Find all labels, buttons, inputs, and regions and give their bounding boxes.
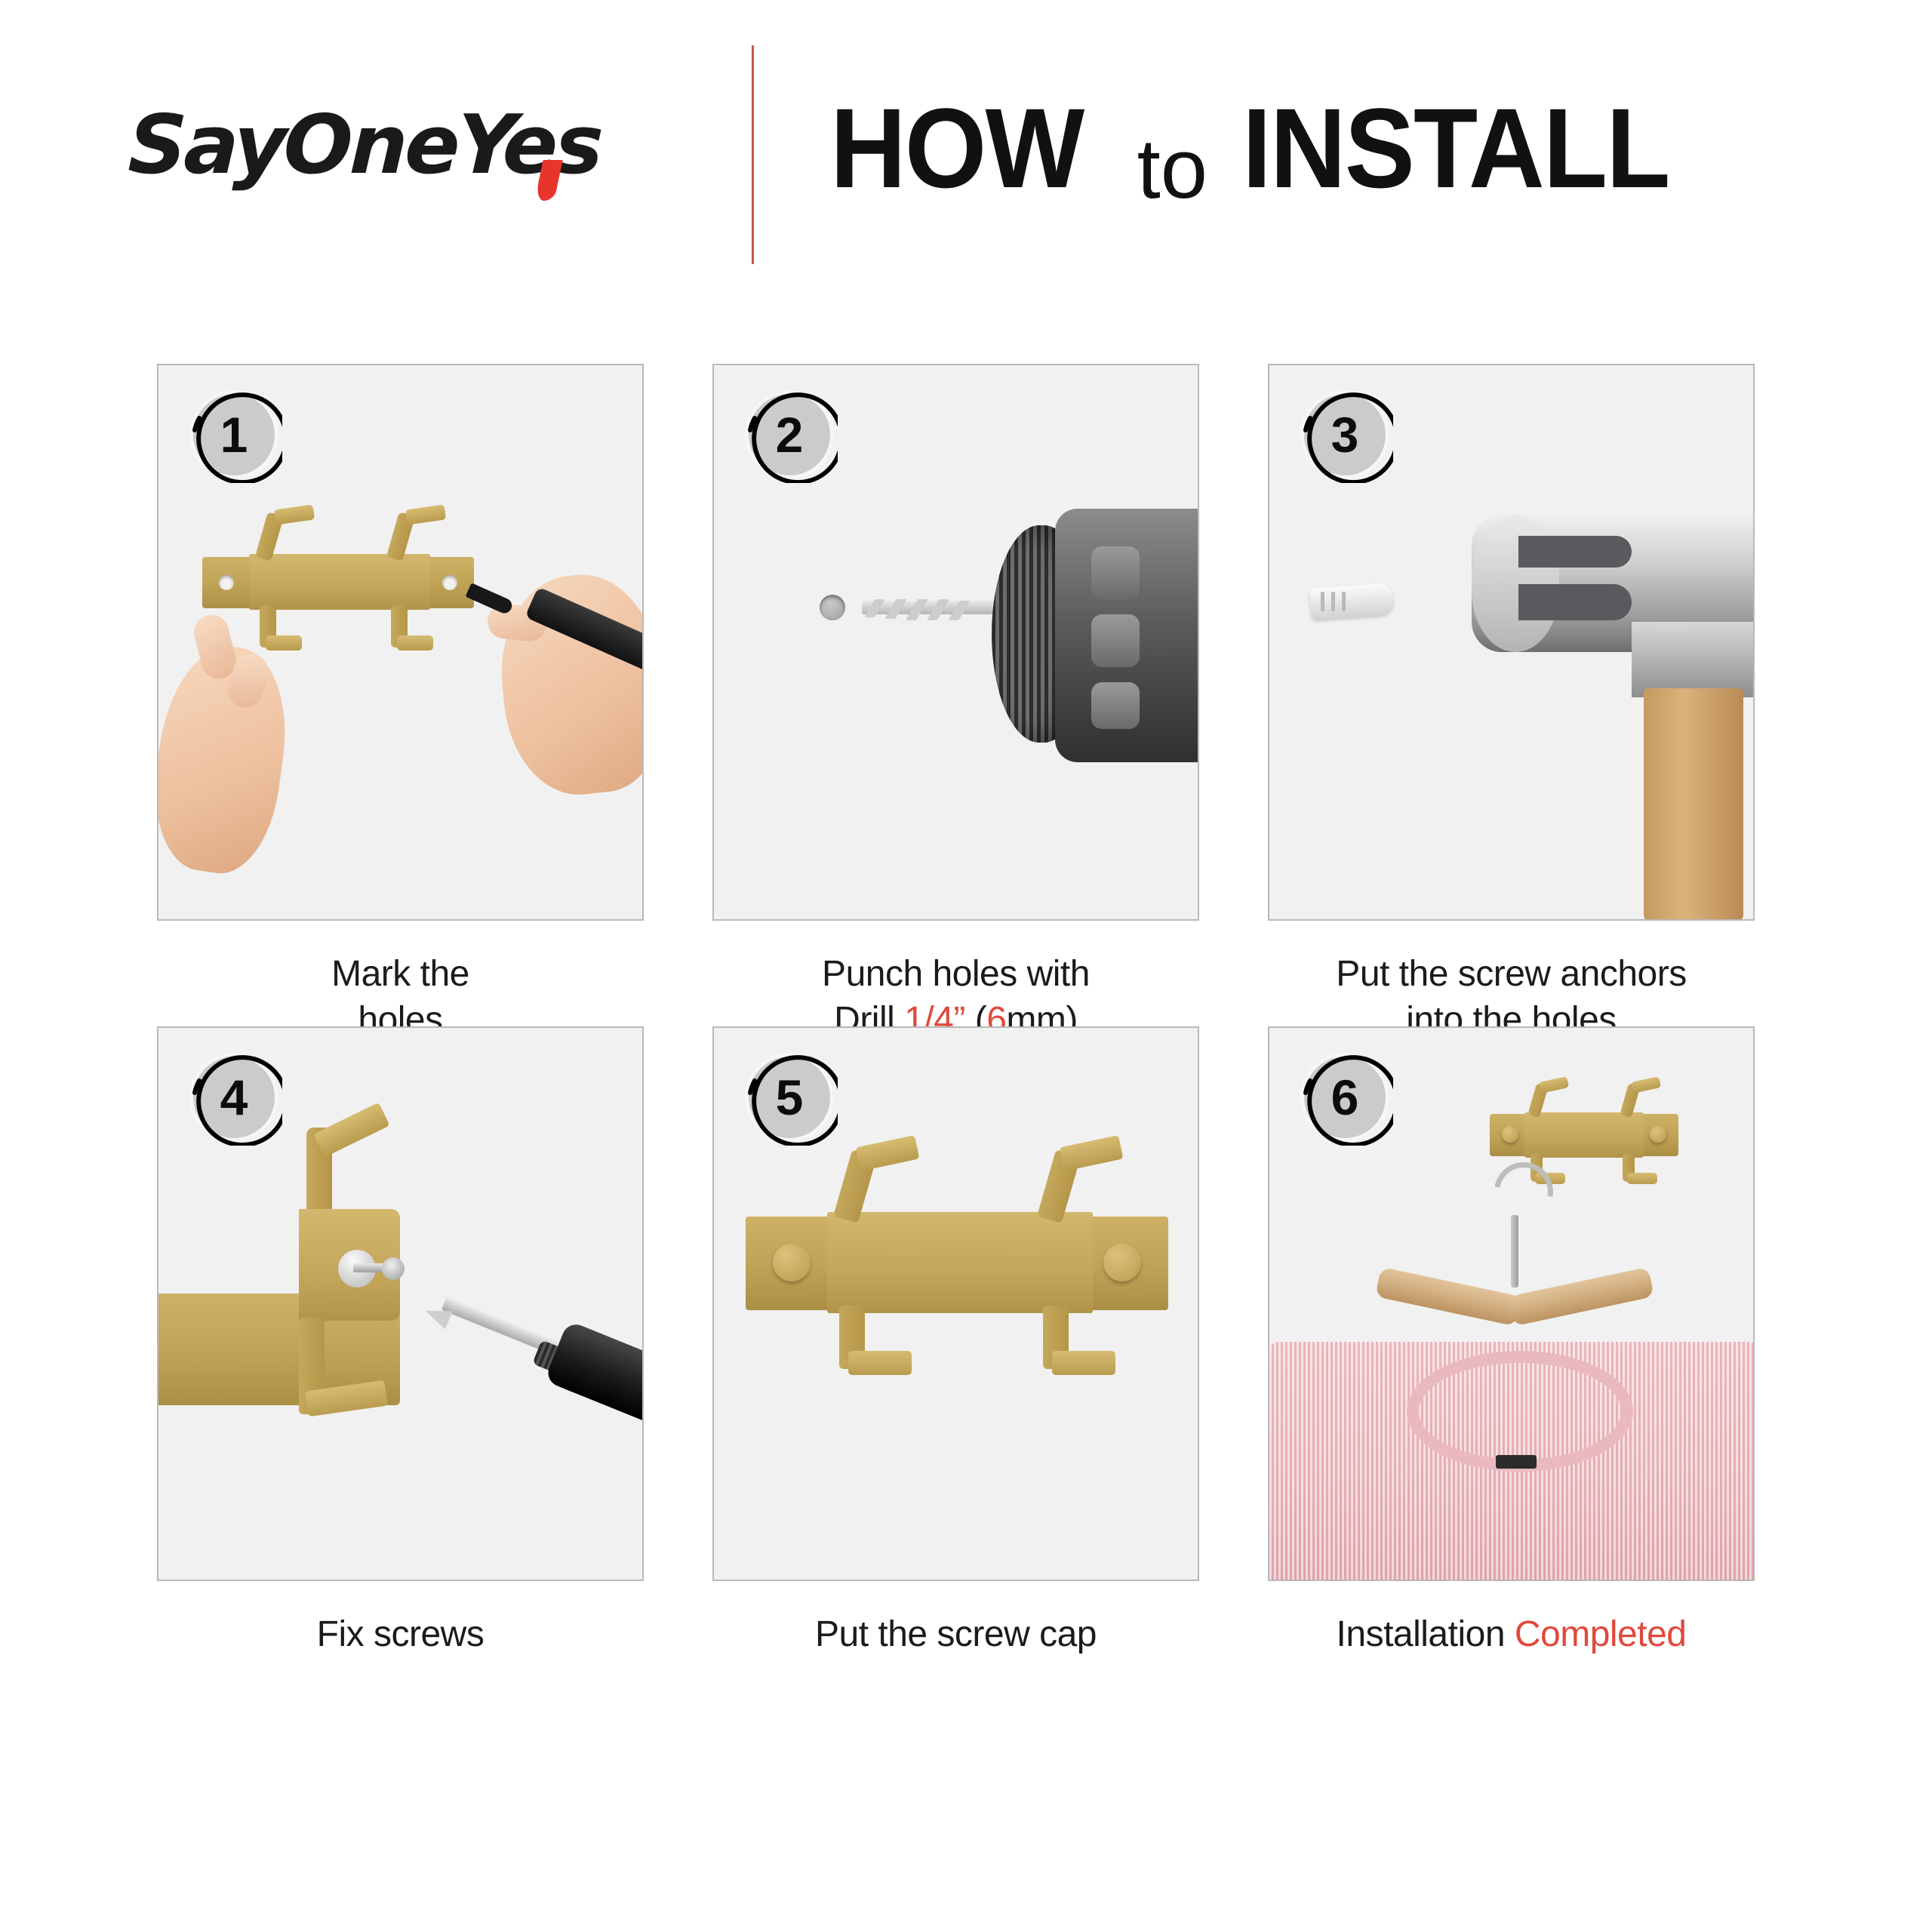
rail-front-bar — [827, 1212, 1093, 1313]
step-badge-5: 5 — [741, 1049, 838, 1146]
caption-prefix: Installation — [1337, 1614, 1515, 1654]
step-panel-3: 3 — [1268, 364, 1755, 921]
hand-drawn-ring-icon — [741, 1049, 838, 1146]
header-divider — [752, 45, 754, 264]
step-caption-6: Installation Completed — [1268, 1581, 1755, 1687]
rail-front-bar — [249, 554, 430, 610]
steps-grid: 1 2 — [157, 364, 1755, 1687]
hanger-bar-right — [1508, 1267, 1654, 1327]
hook-upper-left-tip — [1539, 1076, 1569, 1094]
hook-upper-right-tip — [1631, 1076, 1661, 1094]
hook-upper-left-tip — [856, 1135, 920, 1171]
sweater-neck-tag — [1496, 1455, 1537, 1469]
hammer-claw-notch-upper — [1518, 536, 1632, 568]
screw-cap-right — [1650, 1126, 1666, 1143]
step-panel-4: 4 — [157, 1026, 644, 1581]
hook-upper-right-tip — [405, 504, 446, 525]
step-caption-2: Punch holes with Drill 1/4” (6mm) — [712, 921, 1199, 1026]
caption-line: Mark the — [157, 951, 644, 997]
step-badge-1: 1 — [186, 386, 282, 483]
hanger-stem — [1511, 1215, 1518, 1287]
step-panel-1: 1 — [157, 364, 644, 921]
step-caption-5: Put the screw cap — [712, 1581, 1199, 1687]
step-panel-2: 2 — [712, 364, 1199, 921]
hand-drawn-ring-icon — [186, 1049, 282, 1146]
caption-line: Put the screw cap — [712, 1611, 1199, 1657]
drill-body-vent — [1091, 614, 1140, 667]
title-how: HOW — [830, 83, 1083, 214]
coat-hook-rail — [202, 503, 474, 661]
hook-upper-left-tip — [274, 504, 315, 525]
caption-line: Installation Completed — [1268, 1611, 1755, 1657]
anchor-rib — [1321, 592, 1324, 611]
brand-logo: SayOneYes — [127, 98, 602, 192]
screw-cap-left — [1502, 1126, 1518, 1143]
step-caption-4: Fix screws — [157, 1581, 644, 1687]
step-badge-2: 2 — [741, 386, 838, 483]
hook-lower-left-tip — [266, 635, 302, 651]
hook-lower-right-tip — [397, 635, 433, 651]
hook-lower-right-tip — [1052, 1351, 1115, 1375]
step-caption-3: Put the screw anchors into the holes — [1268, 921, 1755, 1026]
hanger-bar-left — [1375, 1267, 1521, 1327]
rail-front-bar — [1524, 1112, 1644, 1158]
screw-cap-right — [1103, 1244, 1141, 1281]
hook-upper-right-tip — [1060, 1135, 1124, 1171]
screw-head — [382, 1257, 405, 1280]
hand-drawn-ring-icon — [1297, 1049, 1393, 1146]
step-badge-3: 3 — [1297, 386, 1393, 483]
step-caption-1: Mark the holes — [157, 921, 644, 1026]
title-install: INSTALL — [1242, 83, 1669, 214]
step-panel-5: 5 — [712, 1026, 1199, 1581]
rail-screw-hole-right — [442, 575, 457, 590]
caption-highlight-completed: Completed — [1515, 1614, 1687, 1654]
title-to: to — [1137, 120, 1207, 217]
rail-screw-hole-left — [219, 575, 234, 590]
screwdriver-handle — [544, 1321, 644, 1435]
hammer-claw-notch-lower — [1518, 584, 1632, 620]
drilled-wall-hole — [820, 595, 845, 620]
page-title: HOW to INSTALL — [830, 83, 1701, 214]
sweater-collar — [1407, 1351, 1633, 1472]
screw-cap-left — [773, 1244, 811, 1281]
hammer-neck — [1632, 622, 1755, 697]
hand-drawn-ring-icon — [741, 386, 838, 483]
caption-line: Fix screws — [157, 1611, 644, 1657]
page-header: SayOneYes HOW to INSTALL — [0, 0, 1932, 302]
anchor-rib — [1331, 592, 1335, 611]
step-badge-4: 4 — [186, 1049, 282, 1146]
hook-upper-tip — [313, 1103, 389, 1158]
step-panel-6: 6 — [1268, 1026, 1755, 1581]
drill-body-vent — [1091, 546, 1140, 599]
hammer-wooden-handle — [1644, 688, 1743, 921]
anchor-rib — [1342, 592, 1346, 611]
hook-lower-left-tip — [848, 1351, 912, 1375]
hand-drawn-ring-icon — [1297, 386, 1393, 483]
caption-line: Punch holes with — [712, 951, 1199, 997]
caption-line: Put the screw anchors — [1268, 951, 1755, 997]
step-badge-6: 6 — [1297, 1049, 1393, 1146]
mounted-hook-rail — [746, 1135, 1168, 1361]
hook-lower-right-tip — [1627, 1173, 1657, 1184]
hand-drawn-ring-icon — [186, 386, 282, 483]
drill-body-vent — [1091, 682, 1140, 729]
